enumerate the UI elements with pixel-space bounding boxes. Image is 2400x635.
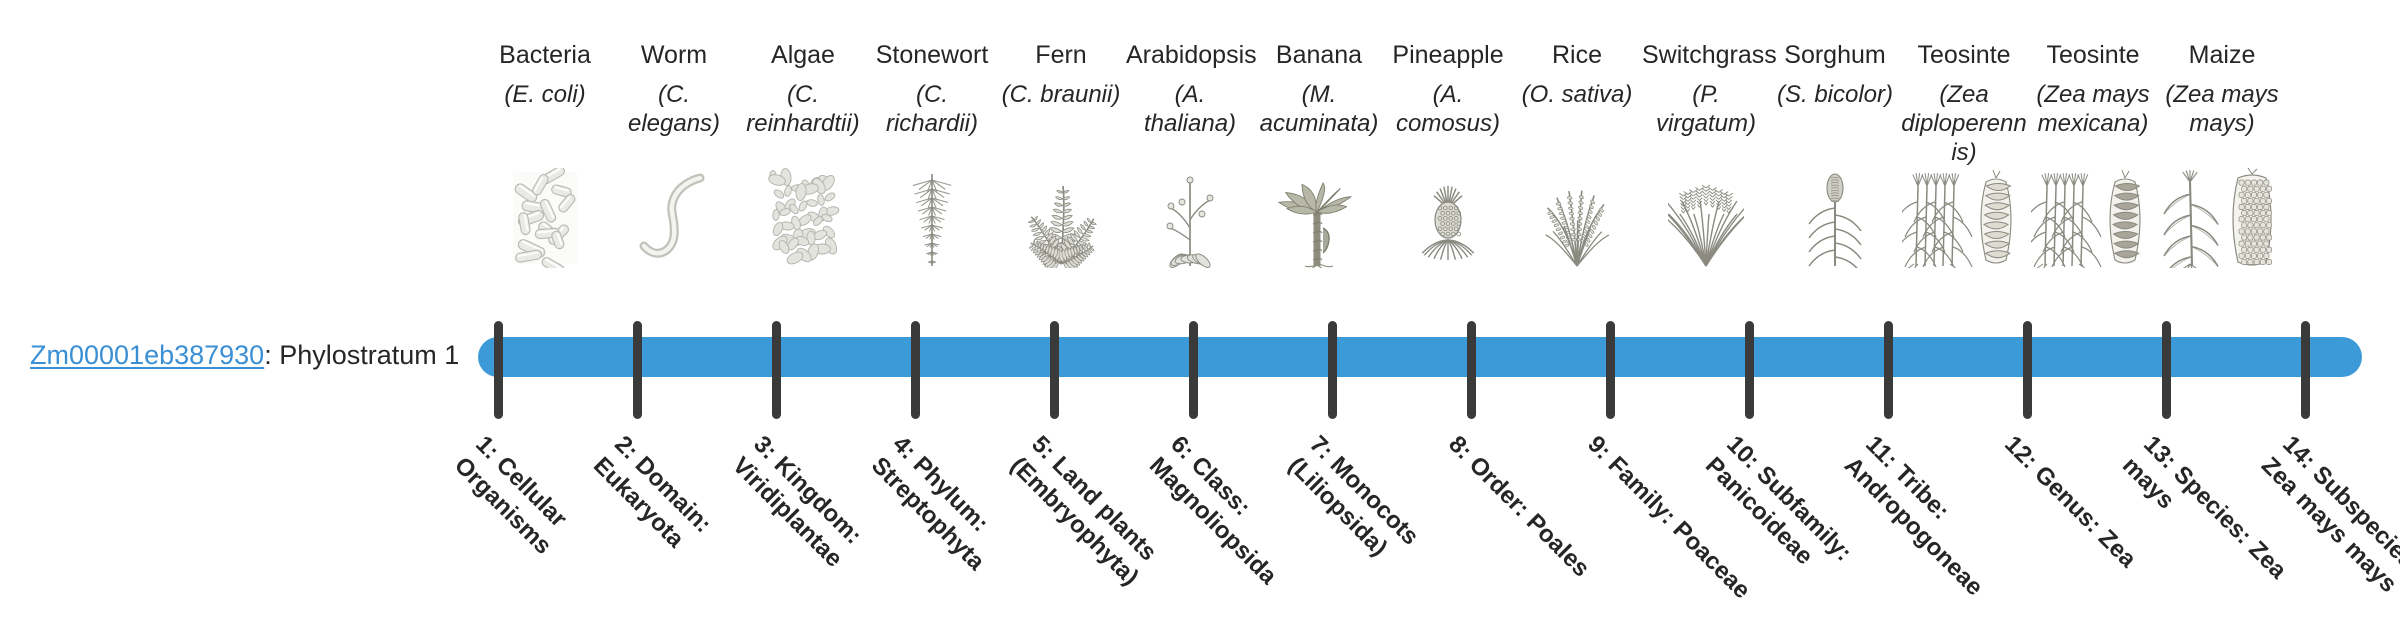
species-column-arabidopsis-5: Arabidopsis(A. thaliana) xyxy=(1126,40,1254,140)
species-latin-name: (C. richardii) xyxy=(868,80,996,140)
species-common-name: Rice xyxy=(1513,40,1641,72)
species-latin-name: (Zea mays mexicana) xyxy=(2029,80,2157,140)
species-common-name: Teosinte xyxy=(2029,40,2157,72)
gene-phylostratum-label: Zm00001eb387930: Phylostratum 1 xyxy=(30,338,460,372)
teosinte-diploperennis-illustration xyxy=(1898,168,2030,268)
stonewort-illustration xyxy=(866,168,998,268)
species-column-stonewort-3: Stonewort(C. richardii) xyxy=(868,40,996,140)
species-common-name: Worm xyxy=(610,40,738,72)
species-common-name: Pineapple xyxy=(1384,40,1512,72)
sorghum-illustration xyxy=(1769,168,1901,268)
species-common-name: Bacteria xyxy=(481,40,609,72)
species-latin-name: (M. acuminata) xyxy=(1255,80,1383,140)
species-latin-name: (C. elegans) xyxy=(610,80,738,140)
species-common-name: Arabidopsis xyxy=(1126,40,1254,72)
species-latin-name: (Zea diploperennis) xyxy=(1900,80,2028,140)
species-common-name: Switchgrass xyxy=(1642,40,1770,72)
species-latin-name: (E. coli) xyxy=(481,80,609,140)
arabidopsis-illustration xyxy=(1124,168,1256,268)
species-column-algae-2: Algae(C. reinhardtii) xyxy=(739,40,867,140)
nematode-worm-illustration xyxy=(608,168,740,268)
timeline-tick-1[interactable] xyxy=(494,321,503,419)
species-latin-name: (O. sativa) xyxy=(1513,80,1641,140)
species-latin-name: (C. braunii) xyxy=(997,80,1125,140)
species-column-teosinte-12: Teosinte(Zea mays mexicana) xyxy=(2029,40,2157,140)
species-column-sorghum-10: Sorghum(S. bicolor) xyxy=(1771,40,1899,140)
species-common-name: Teosinte xyxy=(1900,40,2028,72)
teosinte-mexicana-illustration xyxy=(2027,168,2159,268)
species-common-name: Stonewort xyxy=(868,40,996,72)
phylostratum-timeline-bar[interactable] xyxy=(478,337,2362,377)
species-column-teosinte-11: Teosinte(Zea diploperennis) xyxy=(1900,40,2028,140)
timeline-tick-4[interactable] xyxy=(911,321,920,419)
timeline-tick-6[interactable] xyxy=(1189,321,1198,419)
timeline-tick-5[interactable] xyxy=(1050,321,1059,419)
species-latin-name: (Zea mays mays) xyxy=(2158,80,2286,140)
gene-phylostratum-value: Phylostratum 1 xyxy=(279,340,459,370)
species-common-name: Sorghum xyxy=(1771,40,1899,72)
species-common-name: Fern xyxy=(997,40,1125,72)
bacteria-illustration xyxy=(479,168,611,268)
gene-id-link[interactable]: Zm00001eb387930 xyxy=(30,340,264,370)
species-common-name: Algae xyxy=(739,40,867,72)
gene-label-separator: : xyxy=(264,340,279,370)
species-column-pineapple-7: Pineapple(A. comosus) xyxy=(1384,40,1512,140)
species-column-rice-8: Rice(O. sativa) xyxy=(1513,40,1641,140)
green-algae-illustration xyxy=(737,168,869,268)
species-latin-name: (A. thaliana) xyxy=(1126,80,1254,140)
banana-plant-illustration xyxy=(1253,168,1385,268)
fern-illustration xyxy=(995,168,1127,268)
timeline-tick-3[interactable] xyxy=(772,321,781,419)
timeline-tick-12[interactable] xyxy=(2023,321,2032,419)
timeline-tick-10[interactable] xyxy=(1745,321,1754,419)
species-latin-name: (A. comosus) xyxy=(1384,80,1512,140)
pineapple-illustration xyxy=(1382,168,1514,268)
switchgrass-illustration xyxy=(1640,168,1772,268)
species-column-worm-1: Worm(C. elegans) xyxy=(610,40,738,140)
maize-illustration xyxy=(2156,168,2288,268)
timeline-tick-11[interactable] xyxy=(1884,321,1893,419)
timeline-tick-9[interactable] xyxy=(1606,321,1615,419)
timeline-tick-2[interactable] xyxy=(633,321,642,419)
species-latin-name: (C. reinhardtii) xyxy=(739,80,867,140)
species-common-name: Maize xyxy=(2158,40,2286,72)
timeline-tick-7[interactable] xyxy=(1328,321,1337,419)
phylostratigraphy-timeline-figure: Zm00001eb387930: Phylostratum 1 Bacteria… xyxy=(0,0,2400,580)
species-column-bacteria-0: Bacteria(E. coli) xyxy=(481,40,609,140)
species-column-banana-6: Banana(M. acuminata) xyxy=(1255,40,1383,140)
species-latin-name: (P. virgatum) xyxy=(1642,80,1770,140)
species-column-switchgrass-9: Switchgrass(P. virgatum) xyxy=(1642,40,1770,140)
species-latin-name: (S. bicolor) xyxy=(1771,80,1899,140)
rice-plant-illustration xyxy=(1511,168,1643,268)
timeline-tick-8[interactable] xyxy=(1467,321,1476,419)
timeline-tick-13[interactable] xyxy=(2162,321,2171,419)
species-column-maize-13: Maize(Zea mays mays) xyxy=(2158,40,2286,140)
species-common-name: Banana xyxy=(1255,40,1383,72)
timeline-tick-14[interactable] xyxy=(2301,321,2310,419)
species-column-fern-4: Fern(C. braunii) xyxy=(997,40,1125,140)
